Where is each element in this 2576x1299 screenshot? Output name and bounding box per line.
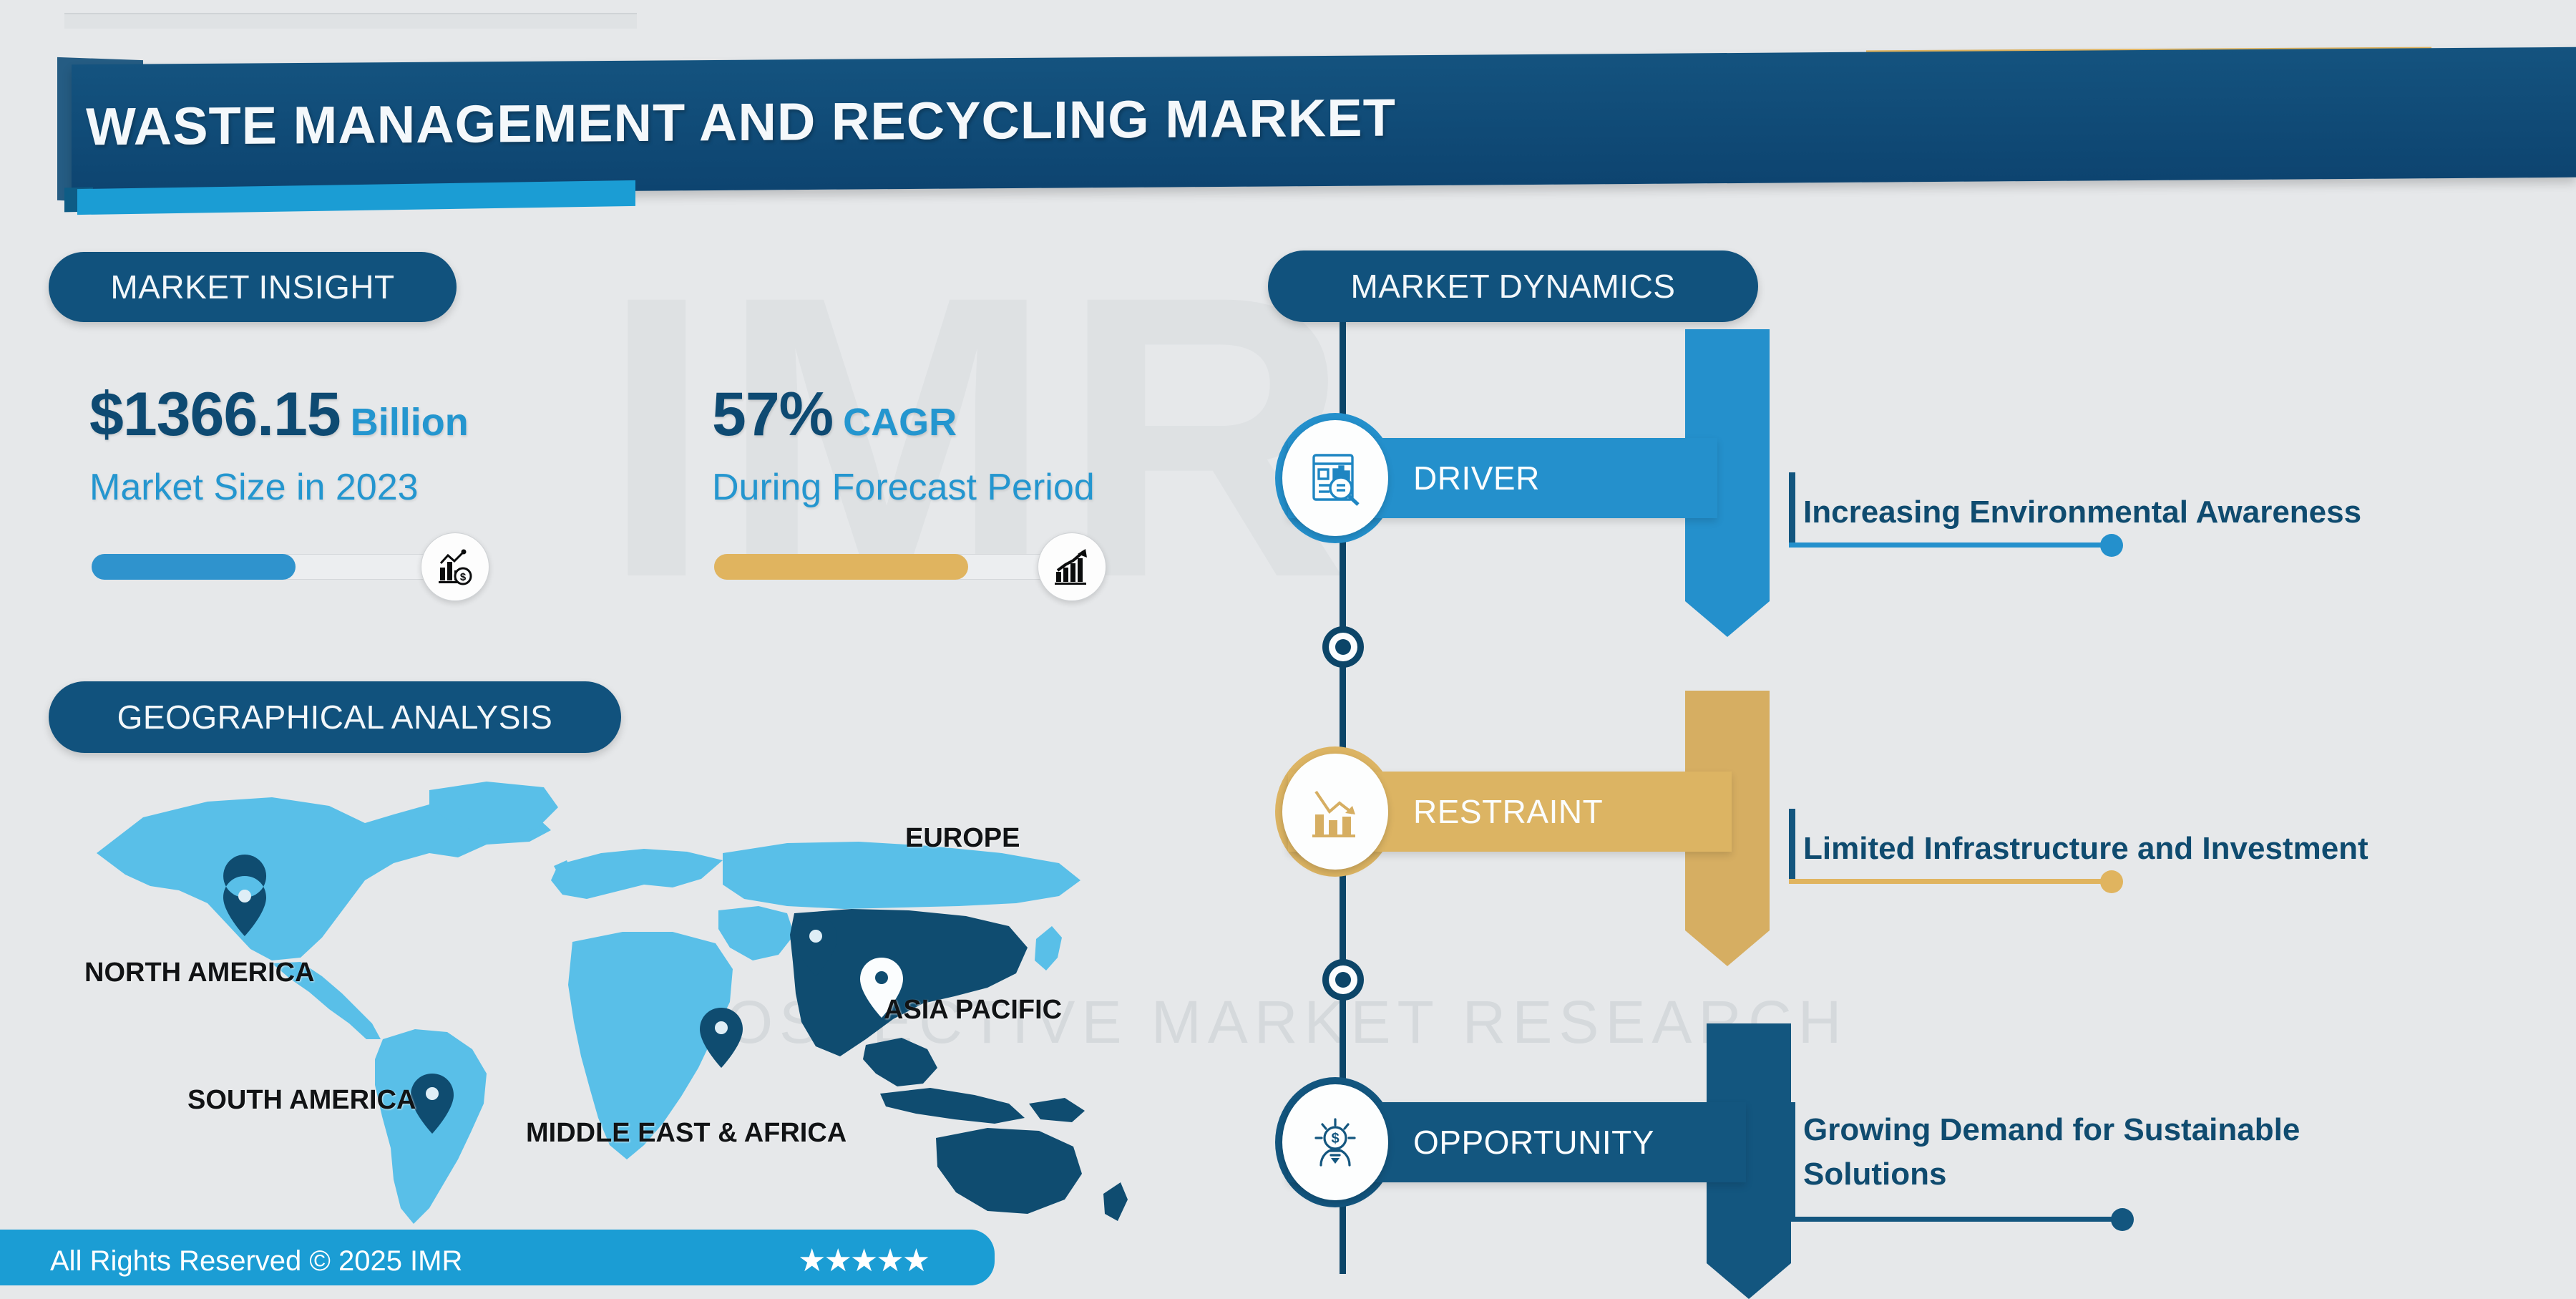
map-region-new-zealand — [1103, 1182, 1128, 1221]
opportunity-description-line-2: Solutions — [1803, 1152, 2300, 1197]
cagr-value: 57% — [712, 380, 833, 449]
bar-chart-dollar-icon: $ — [421, 532, 489, 601]
market-dynamics-pill-label: MARKET DYNAMICS — [1351, 267, 1676, 306]
opportunity-connector-line — [1789, 1217, 2125, 1222]
market-size-value-row: $1366.15Billion — [89, 379, 469, 450]
map-region-papua — [1029, 1098, 1085, 1122]
market-insight-pill: MARKET INSIGHT — [49, 252, 457, 322]
map-label-middle-east-africa: MIDDLE EAST & AFRICA — [526, 1118, 847, 1149]
map-region-japan — [1035, 926, 1062, 970]
driver-text-accent-bar — [1789, 472, 1795, 547]
cagr-progress-fill — [714, 554, 968, 580]
opportunity-connector-dot — [2111, 1208, 2134, 1231]
market-size-progress: $ — [92, 551, 457, 583]
market-size-value: $1366.15 — [89, 380, 341, 449]
map-label-south-america: SOUTH AMERICA — [187, 1085, 416, 1116]
geographical-analysis-pill: GEOGRAPHICAL ANALYSIS — [49, 681, 621, 753]
lightbulb-dollar-icon: $ — [1282, 1084, 1388, 1200]
driver-connector-line — [1789, 543, 2118, 548]
opportunity-label: OPPORTUNITY — [1413, 1123, 1654, 1162]
header-top-shadow-bar — [64, 13, 637, 29]
market-size-stat: $1366.15Billion Market Size in 2023 — [89, 379, 469, 509]
driver-description: Increasing Environmental Awareness — [1803, 490, 2361, 535]
footer-star-rating: ★★★★★ — [798, 1242, 928, 1279]
dynamics-row-restraint: RESTRAINT — [1288, 772, 1839, 852]
map-region-southeast-asia — [863, 1038, 937, 1086]
cagr-stat: 57%CAGR During Forecast Period — [712, 379, 1095, 509]
dynamics-row-driver: DRIVER — [1288, 438, 1825, 518]
opportunity-text-accent-bar — [1789, 1102, 1795, 1221]
report-magnifier-icon — [1282, 420, 1388, 536]
market-insight-pill-label: MARKET INSIGHT — [110, 268, 394, 306]
map-label-asia-pacific: ASIA PACIFIC — [884, 995, 1062, 1026]
market-size-unit: Billion — [351, 401, 469, 444]
market-size-progress-fill — [92, 554, 296, 580]
cagr-unit: CAGR — [843, 401, 957, 444]
map-label-europe: EUROPE — [905, 823, 1020, 854]
geographical-analysis-pill-label: GEOGRAPHICAL ANALYSIS — [117, 698, 553, 736]
opportunity-description: Growing Demand for Sustainable Solutions — [1803, 1108, 2300, 1197]
map-region-north-asia — [723, 842, 1080, 909]
dynamics-row-opportunity: OPPORTUNITY $ — [1288, 1102, 1853, 1182]
driver-label: DRIVER — [1413, 459, 1540, 497]
dynamics-timeline-node-2 — [1322, 959, 1364, 1001]
map-pin-middle-east-africa — [700, 1008, 743, 1068]
cagr-progress — [714, 551, 1079, 583]
svg-text:$: $ — [1331, 1131, 1339, 1147]
map-region-indonesia — [880, 1088, 1025, 1124]
market-dynamics-pill: MARKET DYNAMICS — [1268, 250, 1758, 322]
cagr-sublabel: During Forecast Period — [712, 466, 1095, 509]
page-title: WASTE MANAGEMENT AND RECYCLING MARKET — [86, 87, 1396, 157]
restraint-description: Limited Infrastructure and Investment — [1803, 827, 2368, 871]
restraint-label: RESTRAINT — [1413, 792, 1603, 831]
dynamics-timeline-node-1 — [1322, 626, 1364, 668]
restraint-connector-line — [1789, 879, 2118, 884]
map-region-australia — [936, 1128, 1082, 1214]
map-region-middle-east — [718, 906, 794, 960]
svg-text:$: $ — [460, 571, 467, 583]
cagr-value-row: 57%CAGR — [712, 379, 1095, 450]
driver-connector-dot — [2100, 534, 2123, 557]
market-size-sublabel: Market Size in 2023 — [89, 466, 469, 509]
declining-bar-chart-icon — [1282, 754, 1388, 870]
footer-copyright: All Rights Reserved © 2025 IMR — [50, 1245, 462, 1278]
opportunity-description-line-1: Growing Demand for Sustainable — [1803, 1108, 2300, 1152]
map-region-europe — [551, 849, 723, 899]
growth-arrow-chart-icon — [1038, 532, 1106, 601]
restraint-connector-dot — [2100, 870, 2123, 893]
restraint-text-accent-bar — [1789, 809, 1795, 883]
map-label-north-america: NORTH AMERICA — [84, 958, 315, 988]
